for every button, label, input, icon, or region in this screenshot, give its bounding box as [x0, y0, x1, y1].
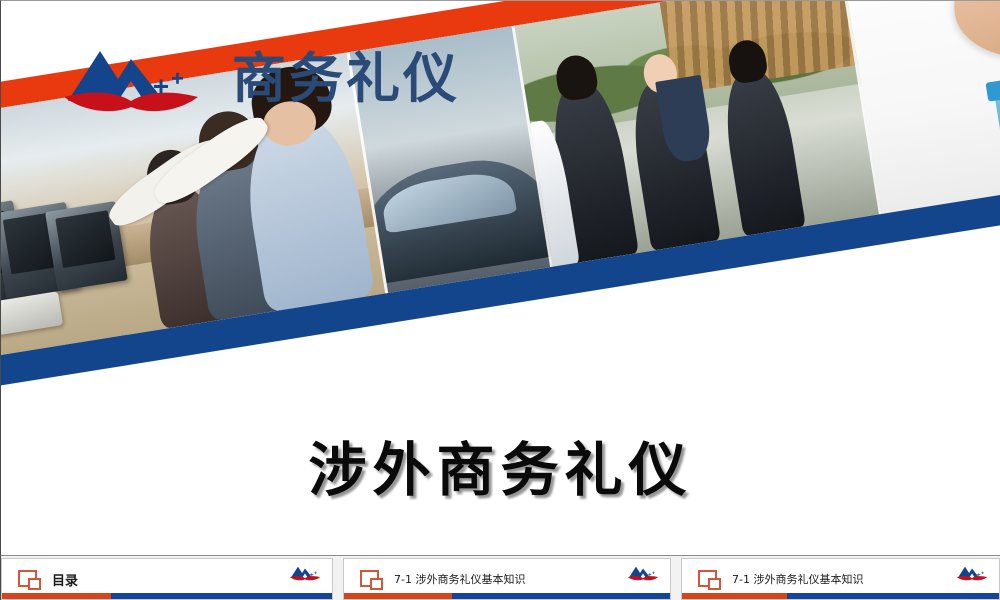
slide-main-title: 涉外商务礼仪: [1, 441, 1000, 499]
footbar-red-segment: [344, 593, 452, 599]
footbar-red-segment: [682, 593, 787, 599]
footbar-blue-segment: [787, 593, 999, 599]
filmstrip-gap: [671, 556, 681, 600]
filmstrip-panel-lesson-7-1-a[interactable]: 7-1 涉外商务礼仪基本知识: [343, 558, 671, 600]
panel-footbar: [2, 593, 332, 599]
filmstrip-panel-label: 7-1 涉外商务礼仪基本知识: [394, 571, 525, 587]
footbar-blue-segment: [111, 593, 332, 599]
slide-icon: [698, 570, 720, 588]
slide-icon: [18, 570, 40, 588]
footbar-red-segment: [2, 593, 111, 599]
panel-footbar: [344, 593, 670, 599]
slide-canvas: 商务礼仪: [0, 0, 1000, 600]
slide-filmstrip: 目录 7-1 涉外商务礼仪基本知识: [1, 555, 1000, 600]
m-mountain-book-logo: [288, 563, 322, 583]
filmstrip-panel-label: 7-1 涉外商务礼仪基本知识: [732, 571, 863, 587]
page-title: 商务礼仪: [232, 52, 460, 106]
m-mountain-book-logo: [56, 35, 206, 123]
slide-icon: [360, 570, 382, 588]
filmstrip-panel-contents[interactable]: 目录: [1, 558, 333, 600]
filmstrip-panel-label: 目录: [52, 570, 78, 589]
m-mountain-book-logo: [626, 563, 660, 583]
filmstrip-gap: [333, 556, 343, 600]
footbar-blue-segment: [452, 593, 670, 599]
panel-footbar: [682, 593, 999, 599]
m-mountain-book-logo: [955, 563, 989, 583]
slide-header: 商务礼仪: [56, 35, 460, 123]
filmstrip-panel-lesson-7-1-b[interactable]: 7-1 涉外商务礼仪基本知识: [681, 558, 1000, 600]
